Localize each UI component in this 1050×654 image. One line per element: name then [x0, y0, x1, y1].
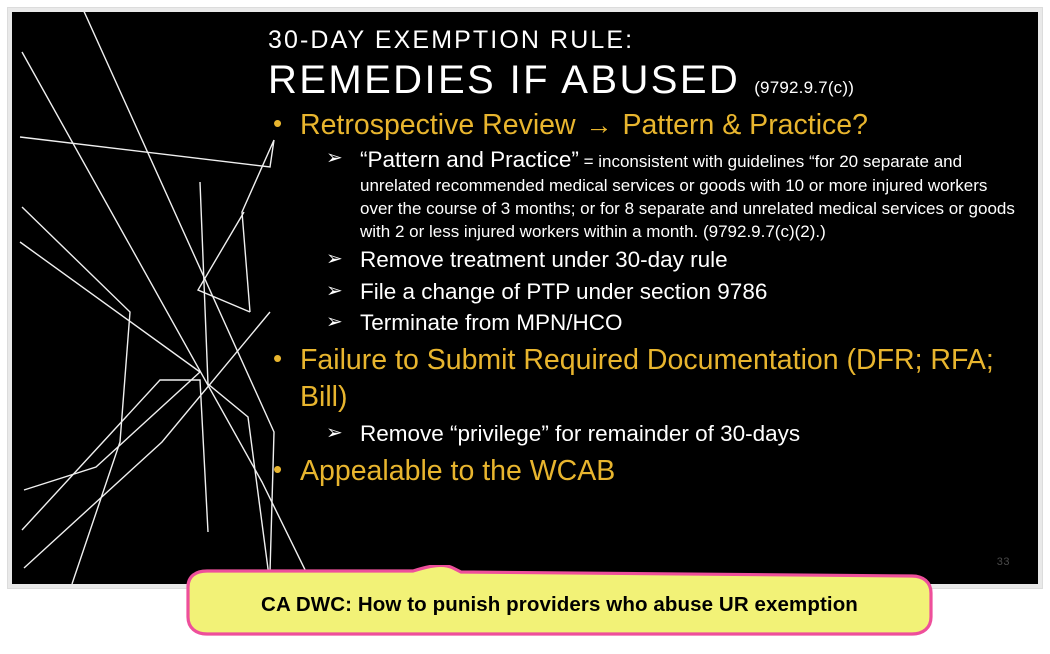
decorative-line-art	[12, 12, 312, 584]
bullet-retrospective-review-label: Retrospective Review → Pattern & Practic…	[300, 107, 1016, 144]
slide-title-main: REMEDIES IF ABUSED	[268, 58, 740, 102]
sub-bullet-file-change-of-ptp-label: File a change of PTP under section 9786	[360, 278, 1016, 306]
bullet-text-before-arrow: Retrospective Review	[300, 109, 584, 141]
bullet-retrospective-review: • Retrospective Review → Pattern & Pract…	[268, 107, 1016, 144]
sub-bullet-arrowhead-icon: ➢	[326, 420, 360, 446]
sub-bullet-arrowhead-icon: ➢	[326, 246, 360, 272]
sub-bullet-terminate-from-mpn-hco: ➢ Terminate from MPN/HCO	[326, 309, 1016, 337]
sub-bullet-arrowhead-icon: ➢	[326, 278, 360, 304]
bullet-appealable-to-wcab-label: Appealable to the WCAB	[300, 453, 1016, 490]
sub-bullet-arrowhead-icon: ➢	[326, 145, 360, 171]
right-arrow-icon: →	[584, 110, 615, 140]
slide-eyebrow: 30-DAY EXEMPTION RULE:	[268, 26, 1016, 56]
bullet-dot-icon: •	[268, 107, 300, 141]
slide-number: 33	[997, 556, 1010, 568]
sub-bullet-pattern-and-practice-text: “Pattern and Practice” = inconsistent wi…	[360, 145, 1016, 244]
callout-label: CA DWC: How to punish providers who abus…	[185, 565, 934, 637]
sub-bullet-remove-privilege-label: Remove “privilege” for remainder of 30-d…	[360, 420, 1016, 448]
bullet-failure-to-submit-documentation-label: Failure to Submit Required Documentation…	[300, 342, 1016, 416]
bullet-appealable-to-wcab: • Appealable to the WCAB	[268, 453, 1016, 490]
page-canvas: 30-DAY EXEMPTION RULE: REMEDIES IF ABUSE…	[0, 0, 1050, 654]
sub-bullet-terminate-from-mpn-hco-label: Terminate from MPN/HCO	[360, 309, 1016, 337]
page-title: REMEDIES IF ABUSED (9792.9.7(c))	[268, 58, 1016, 102]
annotation-callout: CA DWC: How to punish providers who abus…	[185, 565, 934, 637]
sub-bullet-pattern-and-practice-definition: ➢ “Pattern and Practice” = inconsistent …	[326, 145, 1016, 244]
bullet-dot-icon: •	[268, 342, 300, 376]
sub-bullet-arrowhead-icon: ➢	[326, 309, 360, 335]
sub-bullet-remove-privilege: ➢ Remove “privilege” for remainder of 30…	[326, 420, 1016, 448]
sub-bullet-remove-treatment: ➢ Remove treatment under 30-day rule	[326, 246, 1016, 274]
bullet-dot-icon: •	[268, 453, 300, 487]
slide-title-citation: (9792.9.7(c))	[754, 78, 854, 100]
bullet-text-after-arrow: Pattern & Practice?	[615, 109, 868, 141]
definition-term: “Pattern and Practice”	[360, 147, 579, 172]
sub-bullet-remove-treatment-label: Remove treatment under 30-day rule	[360, 246, 1016, 274]
slide-content: 30-DAY EXEMPTION RULE: REMEDIES IF ABUSE…	[268, 26, 1016, 584]
slide-frame: 30-DAY EXEMPTION RULE: REMEDIES IF ABUSE…	[8, 8, 1042, 588]
presentation-slide: 30-DAY EXEMPTION RULE: REMEDIES IF ABUSE…	[12, 12, 1038, 584]
bullet-failure-to-submit-documentation: • Failure to Submit Required Documentati…	[268, 342, 1016, 416]
sub-bullet-file-change-of-ptp: ➢ File a change of PTP under section 978…	[326, 278, 1016, 306]
